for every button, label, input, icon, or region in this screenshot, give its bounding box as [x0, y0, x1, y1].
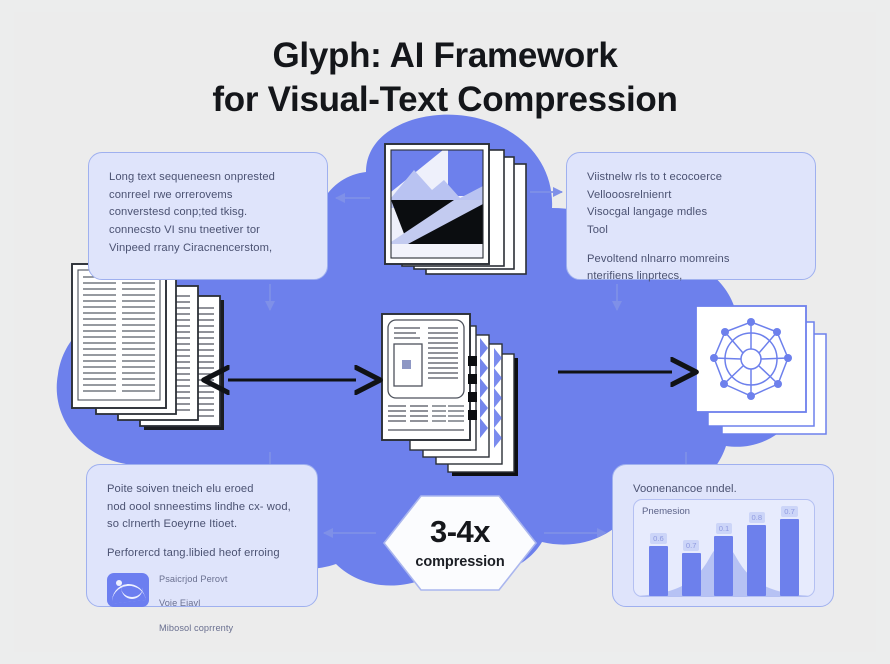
chart-y-axis-label: Pnemesion	[642, 506, 690, 517]
visual-image-stack[interactable]	[380, 142, 530, 282]
image-thumbnail-icon	[107, 573, 149, 607]
chart-bar-4-rect	[747, 525, 766, 596]
diagram-inner-frame: Glyph: AI Framework for Visual-Text Comp…	[14, 12, 876, 652]
network-graph-icon	[692, 300, 844, 445]
callout-bl-mini-block: Psaicrjod Perovt Voie Eiavl Mibosol copr…	[107, 573, 299, 636]
chart-bar-5-rect	[780, 519, 799, 596]
callout-tl-para1: Long text sequeneesn onprested conrreel …	[109, 169, 309, 257]
callout-bl-para2: Perforercd tang.libied heof erroing	[107, 545, 299, 563]
callout-visual-language-model[interactable]: Viistnelw rls to t ecocoerce Vellooosrel…	[566, 152, 816, 280]
chart-bar-4-value: 0.8	[749, 512, 766, 523]
callout-token-savings[interactable]: Poite soiven tneich elu eroed nod oool s…	[86, 464, 318, 607]
page-title: Glyph: AI Framework for Visual-Text Comp…	[14, 34, 876, 123]
compression-ratio-badge[interactable]: 3-4x compression	[382, 494, 538, 592]
chart-bar-2-rect	[682, 553, 701, 595]
rendered-page-stack[interactable]	[376, 308, 551, 480]
callout-performance-benchmarks[interactable]: Voonenancoe nndel. Pnemesion 0.6 0.7	[612, 464, 834, 607]
benchmark-bar-chart[interactable]: Pnemesion 0.6 0.7 0.1	[633, 499, 815, 597]
chart-bar-4: 0.8	[747, 500, 766, 596]
text-document-icon	[66, 260, 234, 440]
image-card-icon	[380, 142, 532, 284]
mini-line-1: Psaicrjod Perovt	[159, 573, 233, 587]
chart-bar-5: 0.7	[780, 500, 799, 596]
chart-bar-3: 0.1	[714, 500, 733, 596]
chart-bar-3-rect	[714, 536, 733, 596]
callout-tr-para2: Pevoltend nlnarro momreins nterifiens li…	[587, 251, 797, 286]
text-document-stack[interactable]	[66, 260, 226, 435]
chart-bar-1-value: 0.6	[650, 533, 667, 544]
mini-line-3: Mibosol coprrenty	[159, 622, 233, 636]
chart-bar-1-rect	[649, 546, 668, 596]
page-title-line1: Glyph: AI Framework	[272, 36, 617, 75]
page-title-line2: for Visual-Text Compression	[14, 78, 876, 122]
callout-long-text-input[interactable]: Long text sequeneesn onprested conrreel …	[88, 152, 328, 280]
diagram-canvas: Glyph: AI Framework for Visual-Text Comp…	[0, 0, 890, 664]
chart-bar-5-value: 0.7	[781, 506, 798, 517]
chart-bar-3-value: 0.1	[716, 523, 733, 534]
hexagon-shape-icon	[382, 494, 538, 592]
callout-bl-para1: Poite soiven tneich elu eroed nod oool s…	[107, 481, 299, 534]
network-graph-stack[interactable]	[692, 300, 842, 442]
page-layout-icon	[376, 308, 554, 483]
chart-bar-2-value: 0.7	[683, 540, 700, 551]
callout-bl-mini-text: Psaicrjod Perovt Voie Eiavl Mibosol copr…	[159, 573, 233, 636]
callout-tr-para1: Viistnelw rls to t ecocoerce Vellooosrel…	[587, 169, 797, 240]
mini-line-2: Voie Eiavl	[159, 597, 233, 611]
chart-title: Voonenancoe nndel.	[633, 481, 815, 499]
